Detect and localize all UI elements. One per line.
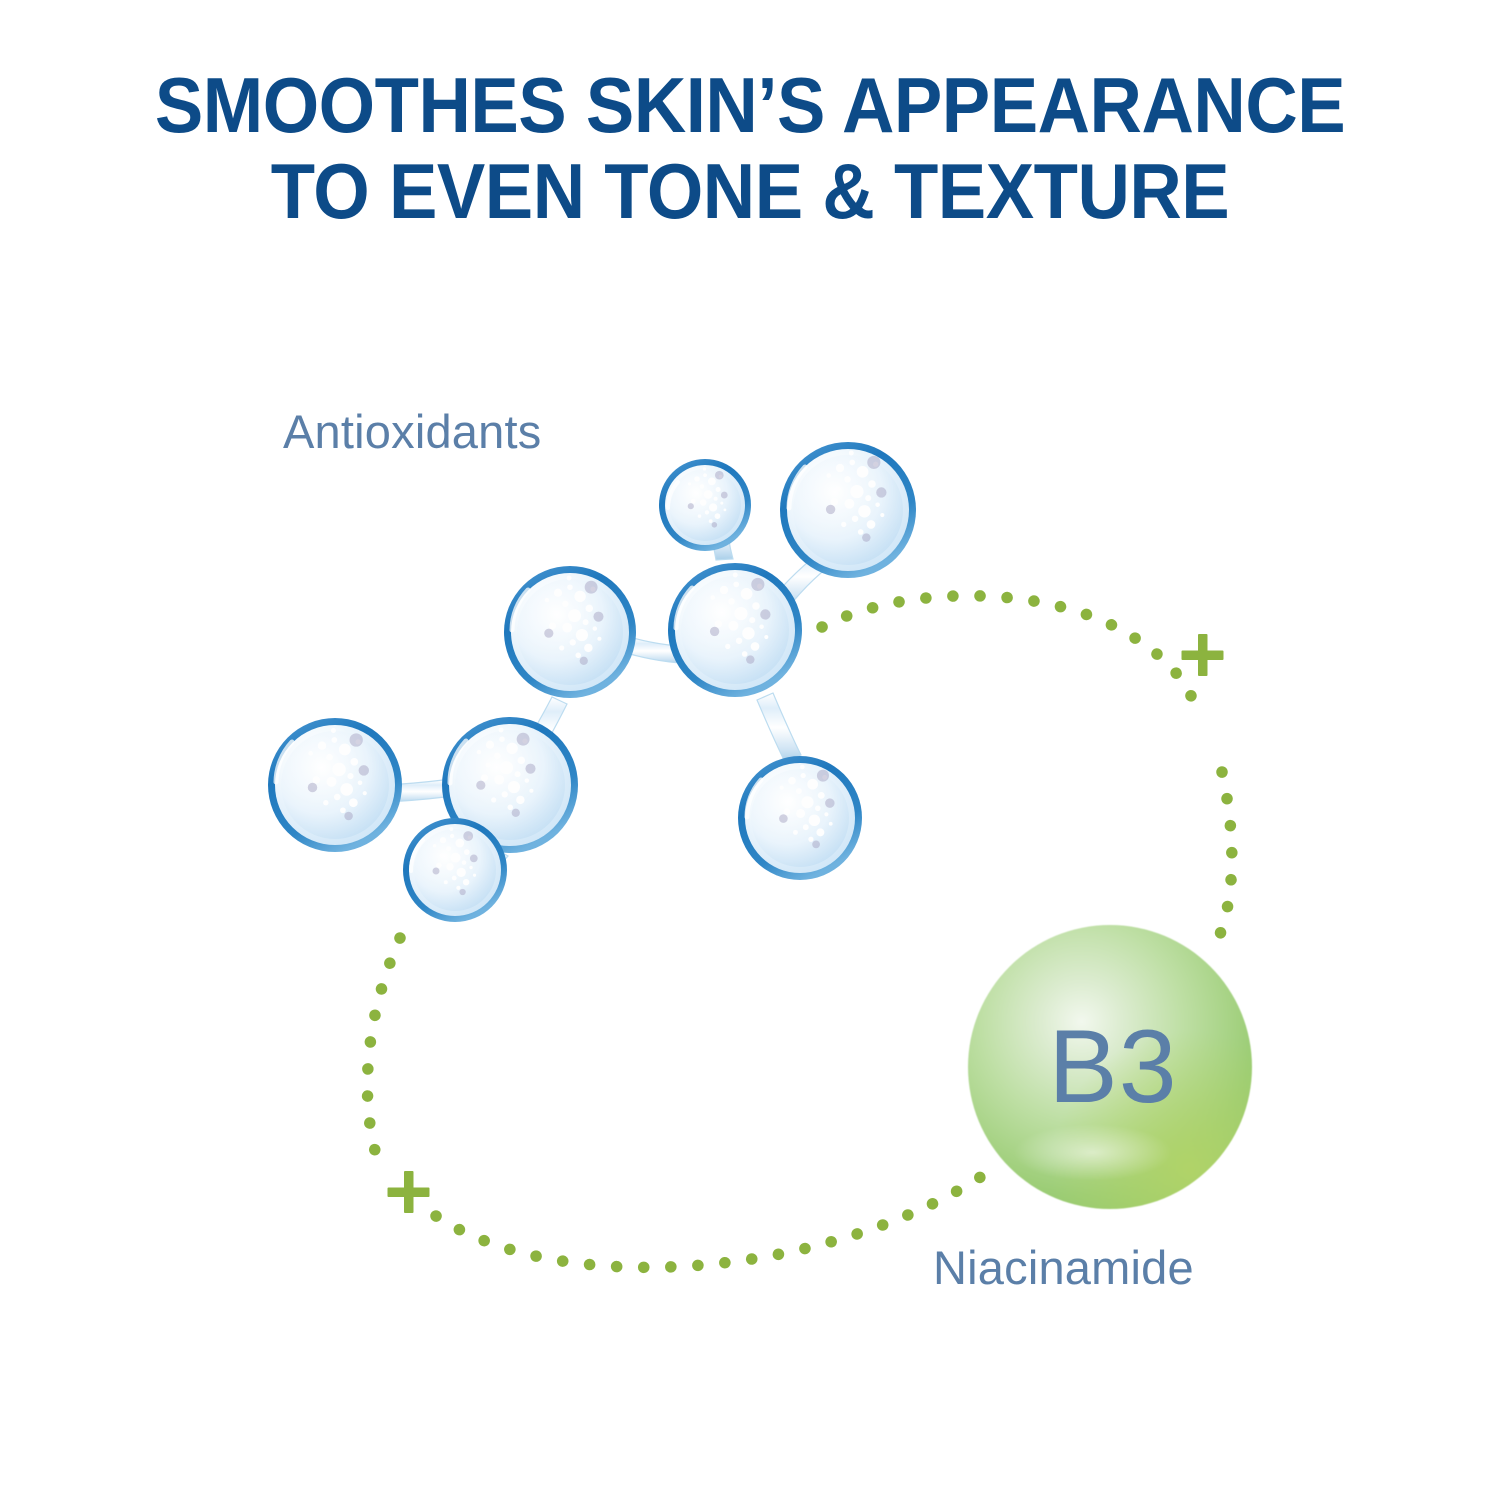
bubble-antioxidant-1 xyxy=(268,718,402,852)
dotted-curve-lower xyxy=(367,938,988,1267)
niacinamide-sphere-label: B3 xyxy=(968,925,1252,1209)
bubble-antioxidant-3 xyxy=(504,566,636,698)
bubble-antioxidant-6 xyxy=(659,459,751,551)
bubble-antioxidant-5 xyxy=(668,563,802,697)
bubble-antioxidant-7 xyxy=(780,442,916,578)
dotted-curve-upper xyxy=(822,596,1232,944)
plus-sign-upper xyxy=(1182,634,1224,676)
plus-sign-lower xyxy=(388,1171,430,1213)
niacinamide-label: Niacinamide xyxy=(933,1240,1194,1295)
bubble-antioxidant-8 xyxy=(738,756,862,880)
antioxidants-label: Antioxidants xyxy=(283,404,541,459)
infographic-canvas: SMOOTHES SKIN’S APPEARANCE TO EVEN TONE … xyxy=(0,0,1500,1500)
bubble-antioxidant-4 xyxy=(403,818,507,922)
ingredient-diagram-art xyxy=(0,0,1500,1500)
